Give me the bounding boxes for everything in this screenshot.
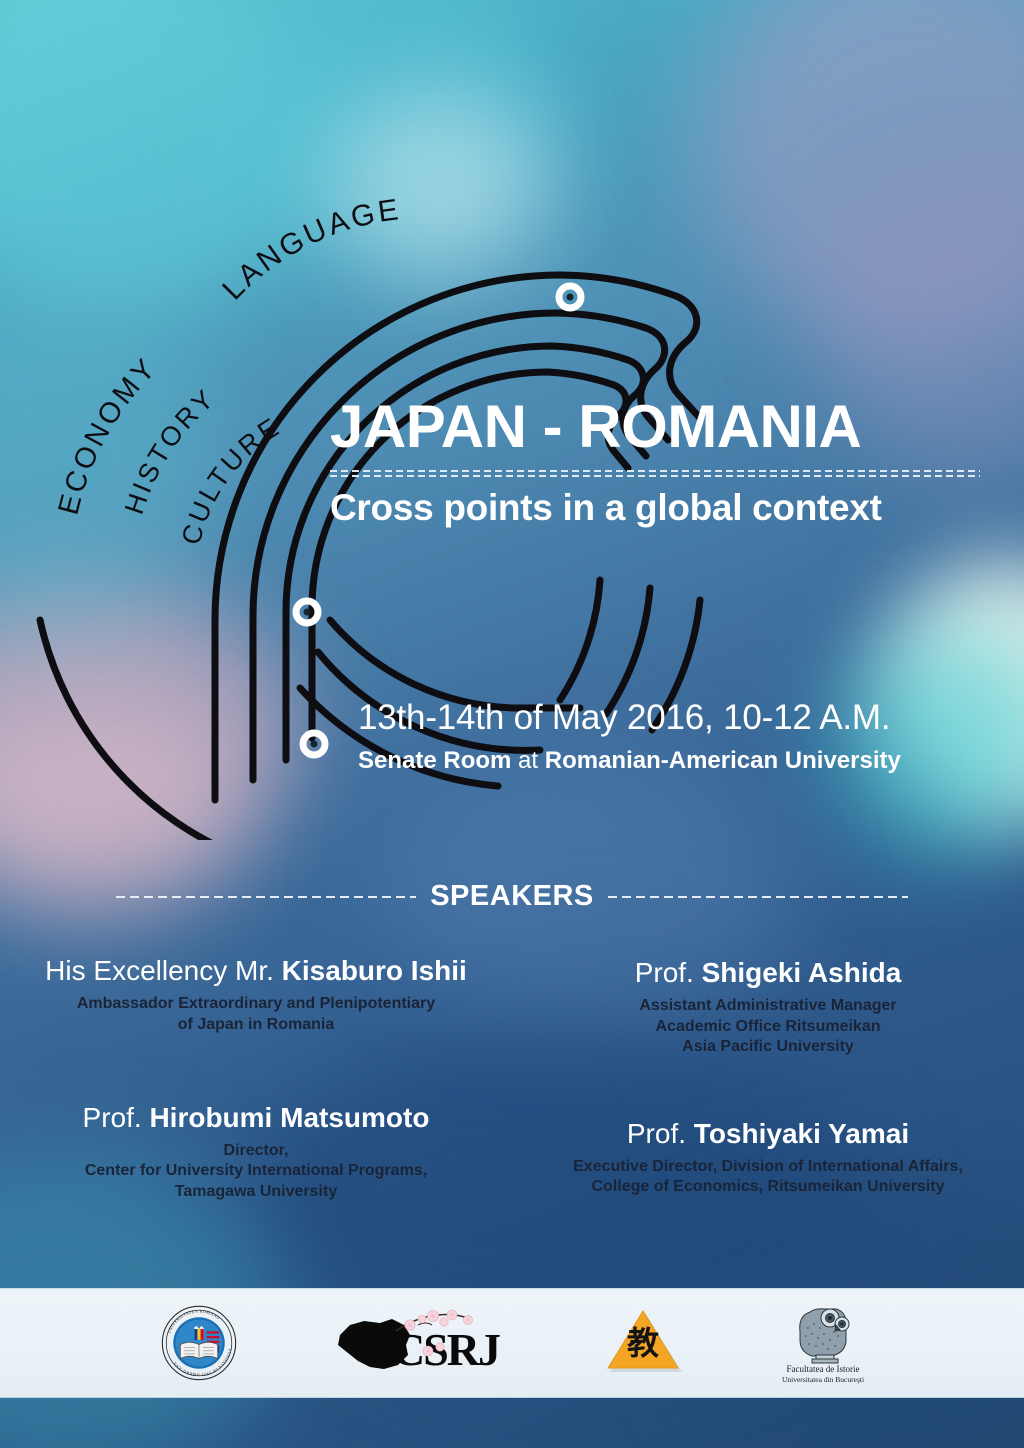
event-meta: 13th-14th of May 2016, 10-12 A.M. Senate… — [358, 698, 998, 775]
title-block: JAPAN - ROMANIA Cross points in a global… — [330, 395, 980, 529]
kanji-triangle-logo: 教 — [600, 1306, 686, 1380]
speaker-role: Director, Center for University Internat… — [14, 1141, 498, 1202]
venue-joiner: at — [511, 747, 544, 774]
event-date: 13th-14th of May 2016, 10-12 A.M. — [358, 698, 998, 738]
venue-institution: Romanian-American University — [545, 747, 901, 774]
event-venue: Senate Room at Romanian-American Univers… — [358, 747, 998, 775]
kanji-glyph: 教 — [627, 1324, 659, 1362]
csrj-wordmark: CSRJ — [392, 1324, 500, 1375]
speaker-role-line: Tamagawa University — [14, 1182, 498, 1202]
owl-logo-caption: Facultatea de Istorie Universitatea din … — [782, 1364, 864, 1384]
venue-room: Senate Room — [358, 747, 511, 774]
speaker-card-shigeki-ashida: Prof. Shigeki Ashida Assistant Administr… — [512, 955, 1024, 1058]
speaker-role-line: Asia Pacific University — [526, 1037, 1010, 1057]
speakers-grid: His Excellency Mr. Kisaburo Ishii Ambass… — [0, 955, 1024, 1202]
owl-caption-line2: Universitatea din Bucureşti — [782, 1375, 864, 1384]
poster-canvas: ECONOMY HISTORY CULTURE LANGUAGE JAPAN -… — [0, 0, 1024, 1448]
speaker-role-line: of Japan in Romania — [14, 1015, 498, 1035]
owl-caption-line1: Facultatea de Istorie — [782, 1364, 864, 1375]
speakers-dash-left — [116, 896, 416, 898]
csrj-logo: CSRJ — [334, 1307, 504, 1379]
spiral-lower-strand — [40, 620, 312, 840]
speakers-heading-row: SPEAKERS — [0, 880, 1024, 913]
speaker-fullname: Toshiyaki Yamai — [694, 1118, 909, 1149]
speaker-role: Ambassador Extraordinary and Plenipotent… — [14, 994, 498, 1035]
spiral-ripple-2 — [606, 588, 650, 714]
speaker-honorific: Prof. — [83, 1102, 150, 1133]
speaker-fullname: Hirobumi Matsumoto — [149, 1102, 429, 1133]
speaker-role-line: Executive Director, Division of Internat… — [526, 1157, 1010, 1177]
speaker-card-toshiyaki-yamai: Prof. Toshiyaki Yamai Executive Director… — [512, 1058, 1024, 1203]
history-faculty-owl-logo: Facultatea de Istorie Universitatea din … — [782, 1302, 864, 1384]
speaker-name: His Excellency Mr. Kisaburo Ishii — [14, 955, 498, 987]
speaker-role-line: College of Economics, Ritsumeikan Univer… — [526, 1177, 1010, 1197]
speaker-role: Assistant Administrative Manager Academi… — [526, 996, 1010, 1057]
speakers-heading: SPEAKERS — [430, 880, 594, 913]
spiral-ripple-1 — [560, 580, 600, 700]
speaker-role-line: Assistant Administrative Manager — [526, 996, 1010, 1016]
speaker-role-line: Ambassador Extraordinary and Plenipotent… — [14, 994, 498, 1014]
footer-logo-bar: UNIVERSITATEA ROMANO FONDATA IN 1991 AME… — [0, 1288, 1024, 1398]
speaker-honorific: Prof. — [627, 1118, 694, 1149]
speaker-honorific: Prof. — [635, 957, 702, 988]
speaker-role-line: Director, — [14, 1141, 498, 1161]
speaker-role-line: Center for University International Prog… — [14, 1161, 498, 1181]
speaker-card-kisaburo-ishii: His Excellency Mr. Kisaburo Ishii Ambass… — [0, 955, 512, 1058]
speaker-name: Prof. Toshiyaki Yamai — [526, 1118, 1010, 1150]
page-title: JAPAN - ROMANIA — [330, 395, 980, 458]
speaker-role-line: Academic Office Ritsumeikan — [526, 1017, 1010, 1037]
speaker-role: Executive Director, Division of Internat… — [526, 1157, 1010, 1198]
speakers-dash-right — [608, 896, 908, 898]
spiral-label-language: LANGUAGE — [216, 193, 403, 306]
page-subtitle: Cross points in a global context — [330, 487, 980, 529]
speaker-name: Prof. Shigeki Ashida — [526, 957, 1010, 989]
speaker-name: Prof. Hirobumi Matsumoto — [14, 1102, 498, 1134]
title-divider — [330, 470, 980, 477]
speaker-fullname: Kisaburo Ishii — [282, 955, 467, 986]
rau-seal-logo: UNIVERSITATEA ROMANO FONDATA IN 1991 AME… — [160, 1304, 238, 1382]
speaker-fullname: Shigeki Ashida — [702, 957, 902, 988]
speaker-card-hirobumi-matsumoto: Prof. Hirobumi Matsumoto Director, Cente… — [0, 1058, 512, 1203]
speaker-honorific: His Excellency Mr. — [45, 955, 282, 986]
